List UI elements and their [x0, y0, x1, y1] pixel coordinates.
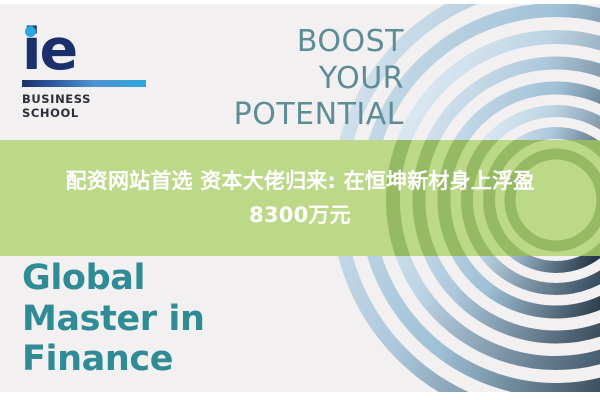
- poster-program-title: Global Master in Finance: [22, 258, 342, 380]
- logo-dot-icon: [25, 26, 36, 37]
- caption-text: 配资网站首选 资本大佬归来: 在恒坤新材身上浮盈 8300万元: [0, 140, 600, 256]
- ie-business-school-logo: ie BUSINESS SCHOOL: [18, 24, 148, 120]
- banner-image: ie BUSINESS SCHOOL BOOST YOUR POTENTIAL …: [0, 0, 600, 400]
- bottom-rail: [0, 392, 600, 400]
- caption-line-1: 配资网站首选 资本大佬归来: 在恒坤新材身上浮盈: [66, 164, 535, 198]
- poster-headline: BOOST YOUR POTENTIAL: [174, 24, 404, 134]
- logo-wordmark: ie: [22, 24, 148, 78]
- logo-subtitle: BUSINESS SCHOOL: [22, 92, 148, 120]
- caption-band: 配资网站首选 资本大佬归来: 在恒坤新材身上浮盈 8300万元: [0, 140, 600, 256]
- caption-line-2: 8300万元: [249, 198, 351, 232]
